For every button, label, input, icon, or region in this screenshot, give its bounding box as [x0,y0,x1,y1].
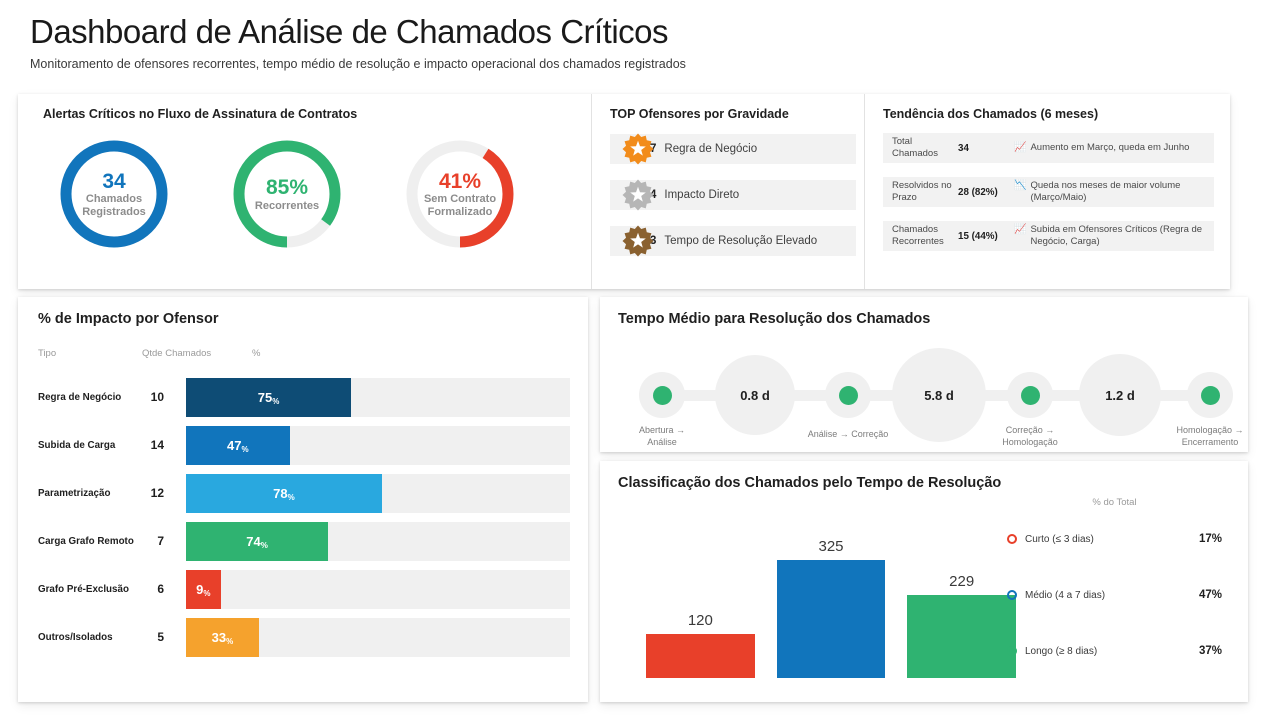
trend-row: Chamados Recorrentes15 (44%)📈Subida em O… [883,221,1214,251]
legend-label: Curto (≤ 3 dias) [1025,534,1199,545]
classification-card: Classificação dos Chamados pelo Tempo de… [600,461,1248,702]
legend-percent: 37% [1199,645,1222,657]
timeline-duration-blob: 5.8 d [892,348,986,442]
gauge-row: 34Chamados Registrados85%Recorrentes41%S… [43,135,583,253]
resolution-time-card: Tempo Médio para Resolução dos Chamados … [600,297,1248,452]
chart-decreasing-icon: 📉 [1014,180,1026,203]
silver-medal-icon [622,179,654,211]
trend-note-text: Subida em Ofensores Críticos (Regra de N… [1030,224,1208,247]
timeline-duration-label: 0.8 d [740,388,770,403]
gauge-chamados-registrados: 34Chamados Registrados [55,135,173,253]
legend-marker-icon [1007,590,1017,600]
trend-note: 📉Queda nos meses de maior volume (Março/… [1014,180,1208,203]
trend-row: Total Chamados34📈Aumento em Março, queda… [883,133,1214,163]
trend-metric-label: Resolvidos no Prazo [892,180,958,203]
timeline-node-dot [839,386,858,405]
page-subtitle: Monitoramento de ofensores recorrentes, … [30,57,1280,71]
impact-bar-fill: 33% [186,618,259,657]
classification-title: Classificação dos Chamados pelo Tempo de… [618,475,1248,491]
legend-items: Curto (≤ 3 dias)17%Médio (4 a 7 dias)47%… [1007,530,1222,660]
classification-column: 120 [646,612,755,678]
timeline-stage-caption: Análise → Correção [798,429,898,441]
timeline-node [1187,372,1233,418]
column-header-pct: % [252,348,292,359]
impact-row-qty: 12 [142,486,186,500]
trend-section: Tendência dos Chamados (6 meses) Total C… [864,94,1214,289]
impact-bar-row: Subida de Carga1447% [38,421,570,469]
top-offenders-list: 7Regra de Negócio4Impacto Direto3Tempo d… [610,134,856,256]
impact-by-offender-card: % de Impacto por Ofensor Tipo Qtde Chama… [18,297,588,702]
timeline-node [825,372,871,418]
trend-note-text: Queda nos meses de maior volume (Março/M… [1030,180,1208,203]
classification-columns: 120325229 [646,518,1016,678]
impact-bar-row: Regra de Negócio1075% [38,373,570,421]
timeline-duration-label: 1.2 d [1105,388,1135,403]
timeline-stage-caption: Correção →Homologação [980,425,1080,448]
page-title: Dashboard de Análise de Chamados Crítico… [30,14,1280,50]
column-header-type: Tipo [38,348,142,359]
timeline-duration-label: 5.8 d [924,388,954,403]
column-header-qty: Qtde Chamados [142,348,252,359]
trend-metric-value: 28 (82%) [958,187,1014,198]
impact-row-qty: 6 [142,582,186,596]
timeline-node-dot [1021,386,1040,405]
impact-bar-track: 75% [186,378,570,417]
timeline-node-dot [1201,386,1220,405]
classification-column-bar [907,595,1016,678]
top-offenders-section: TOP Ofensores por Gravidade 7Regra de Ne… [591,94,856,289]
classification-column: 325 [777,538,886,678]
impact-bar-value: 78% [273,486,295,501]
classification-column-bar [646,634,755,678]
trend-metric-value: 34 [958,143,1014,154]
bronze-medal-icon [622,225,654,257]
impact-bar-track: 47% [186,426,570,465]
impact-bar-fill: 47% [186,426,290,465]
impact-title: % de Impacto por Ofensor [38,311,570,327]
gauge-value: 41% [439,170,481,194]
page-header: Dashboard de Análise de Chamados Crítico… [0,0,1280,71]
gauge-recorrentes: 85%Recorrentes [228,135,346,253]
legend-item[interactable]: Médio (4 a 7 dias)47% [1007,586,1222,604]
gauge-value: 85% [266,176,308,200]
timeline-duration-blob: 1.2 d [1079,354,1161,436]
impact-row-label: Regra de Negócio [38,392,142,403]
timeline-node [639,372,685,418]
impact-row-label: Outros/Isolados [38,632,142,643]
legend-marker-icon [1007,534,1017,544]
trend-row: Resolvidos no Prazo28 (82%)📉Queda nos me… [883,177,1214,207]
impact-bar-fill: 9% [186,570,221,609]
impact-row-qty: 10 [142,390,186,404]
legend-percent: 47% [1199,589,1222,601]
resolution-timeline: 0.8 d5.8 d1.2 dAbertura →AnáliseAnálise … [618,349,1248,449]
impact-table-header: Tipo Qtde Chamados % [38,348,570,359]
gauge-caption: Chamados Registrados [72,193,156,218]
offender-label: Regra de Negócio [664,143,757,155]
gauge-sem-contrato: 41%Sem Contrato Formalizado [401,135,519,253]
timeline-stage-caption: Homologação →Encerramento [1160,425,1260,448]
legend-label: Médio (4 a 7 dias) [1025,590,1199,601]
trend-metric-value: 15 (44%) [958,231,1014,242]
impact-row-qty: 5 [142,630,186,644]
classification-column-value: 325 [818,538,843,555]
trend-note: 📈Aumento em Março, queda em Junho [1014,142,1208,154]
timeline-node-dot [653,386,672,405]
legend-label: Longo (≥ 8 dias) [1025,646,1199,657]
offender-label: Impacto Direto [664,189,739,201]
trend-metric-label: Total Chamados [892,136,958,159]
impact-bar-fill: 78% [186,474,382,513]
gauge-caption: Recorrentes [255,200,319,212]
impact-bar-row: Grafo Pré-Exclusão69% [38,565,570,613]
impact-bar-value: 33% [212,630,234,645]
gauge-value: 34 [102,170,125,194]
classification-column: 229 [907,573,1016,678]
gold-medal-icon [622,133,654,165]
timeline-duration-blob: 0.8 d [715,355,795,435]
overview-card: Alertas Críticos no Fluxo de Assinatura … [18,94,1230,289]
critical-alerts-title: Alertas Críticos no Fluxo de Assinatura … [43,107,583,121]
chart-increasing-icon: 📈 [1014,224,1026,247]
offender-label: Tempo de Resolução Elevado [664,235,817,247]
top-offenders-title: TOP Ofensores por Gravidade [610,107,856,121]
impact-bar-track: 74% [186,522,570,561]
impact-bar-value: 74% [246,534,268,549]
impact-row-qty: 14 [142,438,186,452]
classification-column-value: 229 [949,573,974,590]
legend-item[interactable]: Curto (≤ 3 dias)17% [1007,530,1222,548]
timeline-stage-caption: Abertura →Análise [612,425,712,448]
impact-row-label: Grafo Pré-Exclusão [38,584,142,595]
impact-bar-fill: 75% [186,378,351,417]
impact-bar-row: Outros/Isolados533% [38,613,570,661]
offender-item[interactable]: 7Regra de Negócio [610,134,856,164]
classification-column-value: 120 [688,612,713,629]
trend-note-text: Aumento em Março, queda em Junho [1030,142,1189,154]
trend-note: 📈Subida em Ofensores Críticos (Regra de … [1014,224,1208,247]
classification-legend: % do Total Curto (≤ 3 dias)17%Médio (4 a… [1007,497,1222,698]
legend-marker-icon [1007,646,1017,656]
resolution-time-title: Tempo Médio para Resolução dos Chamados [618,311,1248,327]
legend-title: % do Total [1007,497,1222,508]
impact-bar-value: 9% [196,582,210,597]
impact-row-label: Subida de Carga [38,440,142,451]
chart-increasing-icon: 📈 [1014,142,1026,154]
impact-bar-track: 78% [186,474,570,513]
critical-alerts-section: Alertas Críticos no Fluxo de Assinatura … [18,94,583,289]
classification-column-bar [777,560,886,678]
gauge-caption: Sem Contrato Formalizado [418,193,502,218]
impact-bar-fill: 74% [186,522,328,561]
offender-item[interactable]: 3Tempo de Resolução Elevado [610,226,856,256]
impact-bar-track: 9% [186,570,570,609]
timeline-node [1007,372,1053,418]
impact-bar-value: 47% [227,438,249,453]
trend-title: Tendência dos Chamados (6 meses) [883,107,1214,121]
impact-row-qty: 7 [142,534,186,548]
impact-row-label: Carga Grafo Remoto [38,536,142,547]
legend-percent: 17% [1199,533,1222,545]
offender-item[interactable]: 4Impacto Direto [610,180,856,210]
impact-bar-row: Carga Grafo Remoto774% [38,517,570,565]
trend-metric-label: Chamados Recorrentes [892,224,958,247]
impact-row-label: Parametrização [38,488,142,499]
trend-list: Total Chamados34📈Aumento em Março, queda… [883,133,1214,251]
legend-item[interactable]: Longo (≥ 8 dias)37% [1007,642,1222,660]
impact-bar-track: 33% [186,618,570,657]
impact-bar-value: 75% [258,390,280,405]
impact-bar-rows: Regra de Negócio1075%Subida de Carga1447… [38,373,570,661]
impact-bar-row: Parametrização1278% [38,469,570,517]
